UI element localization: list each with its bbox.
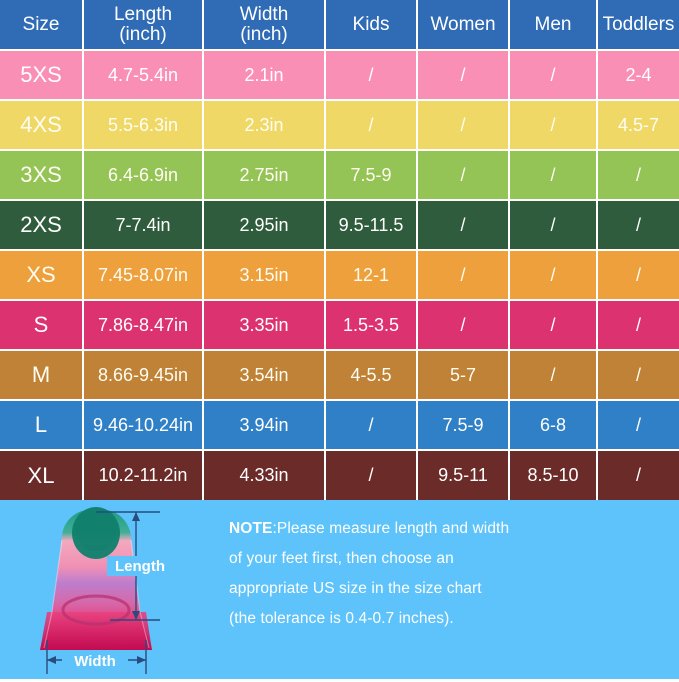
cell-length: 10.2-11.2in [83, 450, 203, 500]
note-label: NOTE [229, 520, 272, 537]
cell-size: S [0, 300, 83, 350]
cell-kids: 7.5-9 [325, 150, 417, 200]
table-header-row: Size Length (inch) Width (inch) Kids Wom… [0, 0, 679, 50]
column-header-men: Men [509, 0, 597, 50]
note-line-3: appropriate US size in the size chart [229, 574, 667, 604]
size-chart-table: Size Length (inch) Width (inch) Kids Wom… [0, 0, 679, 500]
table-row: 3XS 6.4-6.9in 2.75in 7.5-9 / / / [0, 150, 679, 200]
cell-women: 9.5-11 [417, 450, 509, 500]
table-row: M 8.66-9.45in 3.54in 4-5.5 5-7 / / [0, 350, 679, 400]
cell-men: / [509, 350, 597, 400]
table-row: S 7.86-8.47in 3.35in 1.5-3.5 / / / [0, 300, 679, 350]
cell-kids: / [325, 100, 417, 150]
cell-toddlers: / [597, 150, 679, 200]
cell-women: / [417, 150, 509, 200]
cell-size: L [0, 400, 83, 450]
cell-women: / [417, 300, 509, 350]
cell-men: / [509, 100, 597, 150]
cell-kids: / [325, 450, 417, 500]
cell-men: 6-8 [509, 400, 597, 450]
cell-length: 7-7.4in [83, 200, 203, 250]
table-body: 5XS 4.7-5.4in 2.1in / / / 2-4 4XS 5.5-6.… [0, 50, 679, 500]
cell-men: / [509, 300, 597, 350]
fin-diagram-panel: Length Width [0, 500, 215, 679]
cell-kids: 12-1 [325, 250, 417, 300]
cell-width: 2.3in [203, 100, 325, 150]
cell-size: XS [0, 250, 83, 300]
cell-size: 2XS [0, 200, 83, 250]
cell-men: / [509, 200, 597, 250]
cell-toddlers: / [597, 300, 679, 350]
column-header-women-label: Women [430, 14, 495, 35]
table-row: 2XS 7-7.4in 2.95in 9.5-11.5 / / / [0, 200, 679, 250]
cell-men: 8.5-10 [509, 450, 597, 500]
cell-width: 3.54in [203, 350, 325, 400]
column-header-size-label: Size [23, 14, 60, 35]
cell-kids: 9.5-11.5 [325, 200, 417, 250]
cell-size: 5XS [0, 50, 83, 100]
cell-kids: / [325, 50, 417, 100]
cell-toddlers: / [597, 250, 679, 300]
cell-width: 3.35in [203, 300, 325, 350]
cell-size: M [0, 350, 83, 400]
column-header-kids-label: Kids [353, 14, 390, 35]
column-header-width-label: Width [240, 4, 289, 25]
column-header-toddlers-label: Toddlers [603, 14, 675, 35]
cell-toddlers: / [597, 400, 679, 450]
note-line-1-text: :Please measure length and width [272, 520, 509, 537]
width-arrow-right [137, 656, 146, 664]
table-row: 4XS 5.5-6.3in 2.3in / / / 4.5-7 [0, 100, 679, 150]
cell-width: 2.75in [203, 150, 325, 200]
column-header-width: Width (inch) [203, 0, 325, 50]
cell-men: / [509, 50, 597, 100]
cell-toddlers: / [597, 200, 679, 250]
column-header-kids: Kids [325, 0, 417, 50]
table-row: L 9.46-10.24in 3.94in / 7.5-9 6-8 / [0, 400, 679, 450]
cell-length: 6.4-6.9in [83, 150, 203, 200]
cell-women: 5-7 [417, 350, 509, 400]
fin-toe-highlight [76, 509, 116, 551]
cell-men: / [509, 250, 597, 300]
note-line-4: (the tolerance is 0.4-0.7 inches). [229, 604, 667, 634]
cell-toddlers: / [597, 450, 679, 500]
column-header-length-unit: (inch) [84, 25, 202, 44]
column-header-size: Size [0, 0, 83, 50]
cell-toddlers: 2-4 [597, 50, 679, 100]
cell-length: 7.86-8.47in [83, 300, 203, 350]
width-arrow-left [47, 656, 56, 664]
cell-women: / [417, 200, 509, 250]
column-header-women: Women [417, 0, 509, 50]
column-header-length: Length (inch) [83, 0, 203, 50]
cell-width: 3.94in [203, 400, 325, 450]
cell-women: / [417, 50, 509, 100]
cell-width: 3.15in [203, 250, 325, 300]
cell-men: / [509, 150, 597, 200]
width-label: Width [74, 653, 116, 670]
column-header-toddlers: Toddlers [597, 0, 679, 50]
fin-diagram: Length Width [0, 500, 215, 677]
length-arrow-top [132, 512, 140, 521]
size-chart-page: Size Length (inch) Width (inch) Kids Wom… [0, 0, 679, 679]
cell-toddlers: / [597, 350, 679, 400]
cell-size: 3XS [0, 150, 83, 200]
table-header: Size Length (inch) Width (inch) Kids Wom… [0, 0, 679, 50]
table-row: XL 10.2-11.2in 4.33in / 9.5-11 8.5-10 / [0, 450, 679, 500]
cell-kids: 4-5.5 [325, 350, 417, 400]
table-row: 5XS 4.7-5.4in 2.1in / / / 2-4 [0, 50, 679, 100]
swim-fin-illustration: Length Width [0, 500, 215, 677]
note-section: Length Width NOTE:Please measure length … [0, 500, 679, 679]
cell-length: 8.66-9.45in [83, 350, 203, 400]
note-line-2: of your feet first, then choose an [229, 544, 667, 574]
cell-women: / [417, 250, 509, 300]
note-line-1: NOTE:Please measure length and width [229, 514, 667, 544]
cell-size: 4XS [0, 100, 83, 150]
cell-length: 5.5-6.3in [83, 100, 203, 150]
column-header-width-unit: (inch) [204, 25, 324, 44]
cell-women: / [417, 100, 509, 150]
cell-women: 7.5-9 [417, 400, 509, 450]
cell-kids: 1.5-3.5 [325, 300, 417, 350]
column-header-men-label: Men [535, 14, 572, 35]
table-row: XS 7.45-8.07in 3.15in 12-1 / / / [0, 250, 679, 300]
cell-width: 4.33in [203, 450, 325, 500]
cell-size: XL [0, 450, 83, 500]
note-text-panel: NOTE:Please measure length and width of … [215, 500, 679, 679]
cell-kids: / [325, 400, 417, 450]
length-label: Length [115, 558, 165, 575]
cell-length: 7.45-8.07in [83, 250, 203, 300]
cell-width: 2.1in [203, 50, 325, 100]
cell-length: 9.46-10.24in [83, 400, 203, 450]
column-header-length-label: Length [114, 4, 172, 25]
cell-length: 4.7-5.4in [83, 50, 203, 100]
cell-width: 2.95in [203, 200, 325, 250]
cell-toddlers: 4.5-7 [597, 100, 679, 150]
